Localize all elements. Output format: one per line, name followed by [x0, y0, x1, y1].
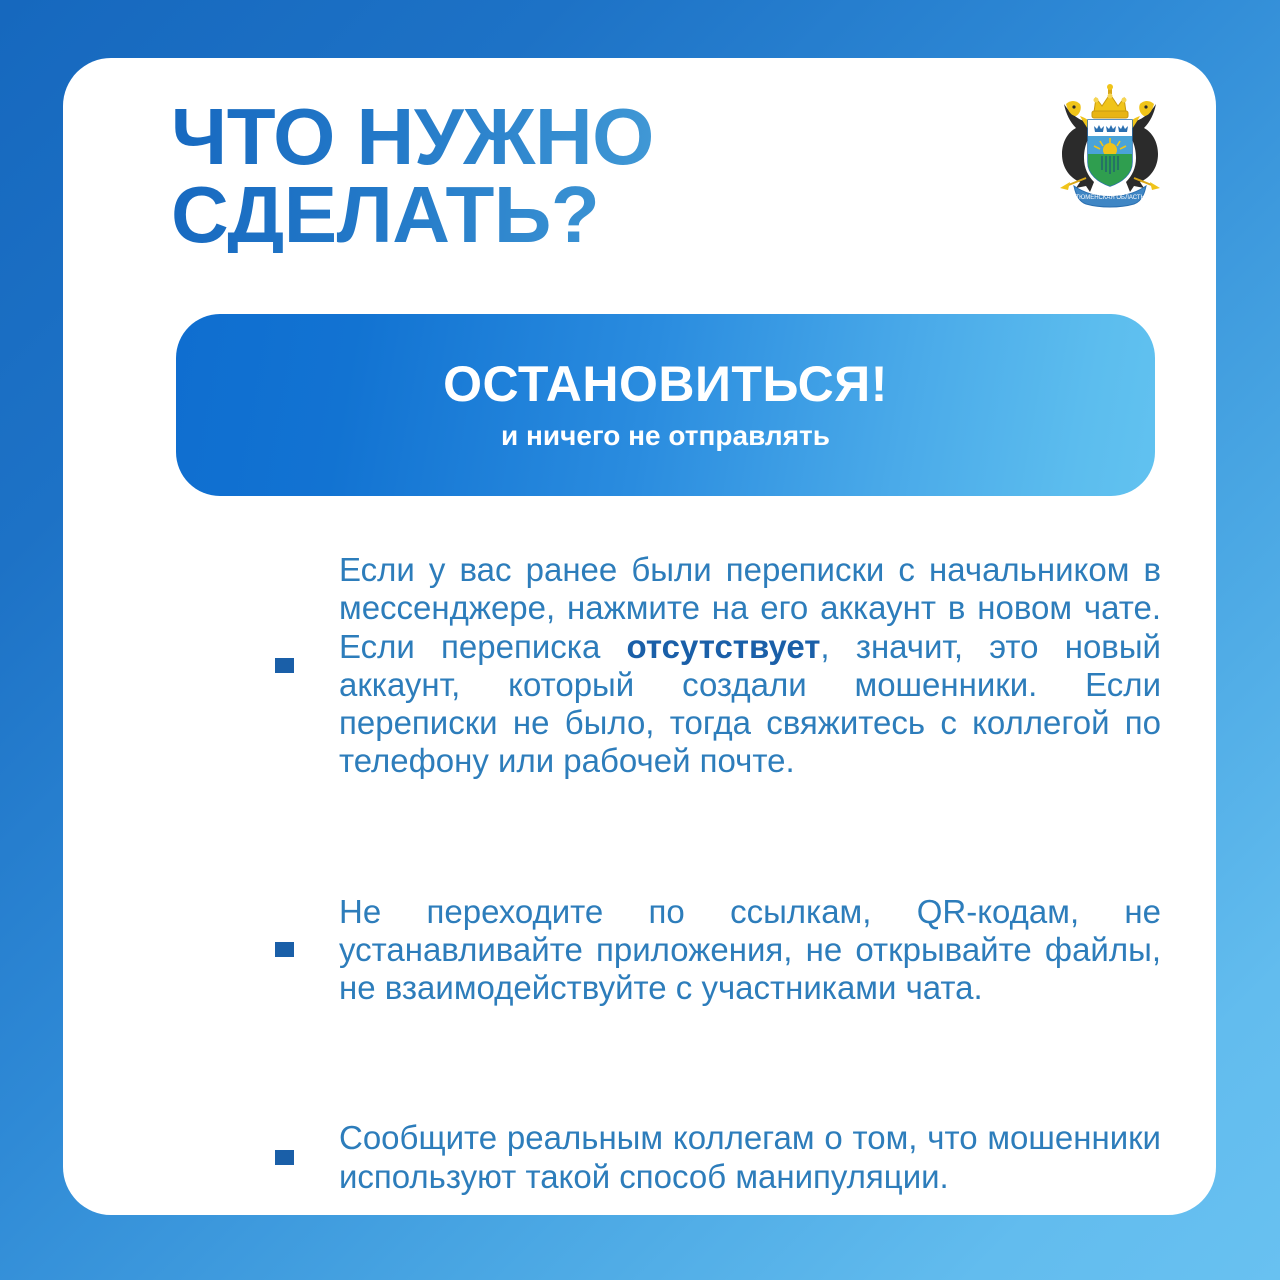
header: ЧТО НУЖНО СДЕЛАТЬ? [63, 58, 1216, 278]
bullet-square-icon [275, 658, 294, 673]
banner-headline: ОСТАНОВИТЬСЯ! [443, 358, 888, 411]
list-item-emphasis: отсутствует [627, 628, 821, 665]
bullet-square-icon [275, 1150, 294, 1165]
list-item: Если у вас ранее были переписки с началь… [63, 518, 1216, 814]
banner-subline: и ничего не отправлять [501, 421, 830, 452]
stop-banner: ОСТАНОВИТЬСЯ! и ничего не отправлять [176, 314, 1155, 496]
list-item-text: Если у вас ранее были переписки с началь… [339, 551, 1161, 781]
advice-list: Если у вас ранее были переписки с началь… [63, 518, 1216, 1215]
page-title-line-2: СДЕЛАТЬ? [171, 176, 931, 254]
svg-text:ТЮМЕНСКАЯ ОБЛАСТЬ: ТЮМЕНСКАЯ ОБЛАСТЬ [1075, 195, 1144, 201]
list-item: Не переходите по ссылкам, QR-кодам, не у… [63, 860, 1216, 1041]
bullet-square-icon [275, 942, 294, 957]
list-item: Сообщите реальным коллегам о том, что мо… [63, 1086, 1216, 1215]
page-title-line-1: ЧТО НУЖНО [171, 98, 931, 176]
content-card: ЧТО НУЖНО СДЕЛАТЬ? [63, 58, 1216, 1215]
list-item-text: Не переходите по ссылкам, QR-кодам, не у… [339, 893, 1161, 1008]
list-item-text: Сообщите реальным коллегам о том, что мо… [339, 1119, 1161, 1196]
page-title: ЧТО НУЖНО СДЕЛАТЬ? [171, 98, 931, 253]
poster-root: ЧТО НУЖНО СДЕЛАТЬ? [0, 0, 1280, 1280]
coat-of-arms-tyumen-oblast-icon: ТЮМЕНСКАЯ ОБЛАСТЬ [1050, 82, 1170, 208]
